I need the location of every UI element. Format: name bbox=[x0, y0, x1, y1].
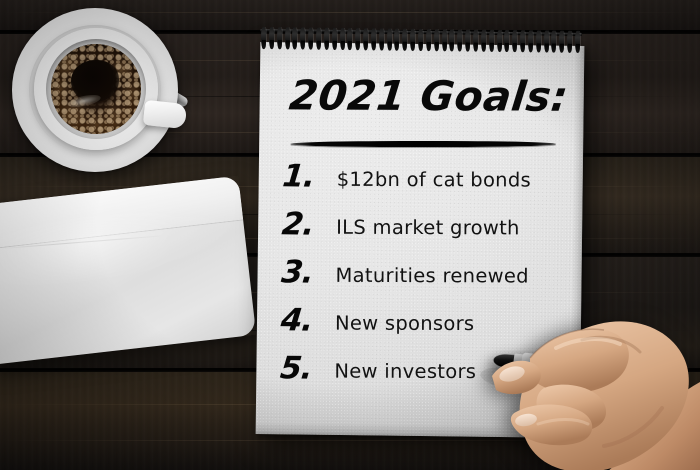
spiral-coil bbox=[426, 29, 431, 51]
spiral-coil bbox=[528, 30, 533, 52]
cup-rim bbox=[46, 39, 146, 139]
spiral-coil bbox=[457, 29, 462, 51]
spiral-coil bbox=[504, 30, 509, 52]
spiral-coil bbox=[567, 31, 572, 53]
list-item-number: 3. bbox=[280, 254, 330, 291]
spiral-coil bbox=[300, 28, 305, 50]
list-item-text: Maturities renewed bbox=[336, 264, 529, 288]
envelope bbox=[0, 176, 256, 365]
spiral-coil bbox=[449, 29, 454, 51]
spiral-coil bbox=[441, 29, 446, 51]
screenshot-scene: 2021 Goals: 1. $12bn of cat bonds 2. ILS… bbox=[0, 0, 700, 470]
spiral-coil bbox=[277, 27, 282, 49]
coffee-cup bbox=[34, 28, 158, 150]
spiral-coil bbox=[371, 28, 376, 50]
spiral-coil bbox=[520, 30, 525, 52]
list-item-text: $12bn of cat bonds bbox=[337, 168, 531, 192]
spiral-coil bbox=[363, 28, 368, 50]
spiral-coil bbox=[418, 29, 423, 51]
list-item-text: New sponsors bbox=[335, 312, 475, 335]
spiral-coil bbox=[402, 29, 407, 51]
saucer bbox=[12, 8, 178, 172]
coffee-liquid bbox=[51, 44, 141, 134]
spiral-coil bbox=[261, 27, 266, 49]
spiral-coil bbox=[269, 27, 274, 49]
spiral-coil bbox=[308, 28, 313, 50]
spiral-coil bbox=[379, 28, 384, 50]
spiral-coil bbox=[512, 30, 517, 52]
spiral-coil bbox=[324, 28, 329, 50]
spiral-coil bbox=[434, 29, 439, 51]
hand-illustration bbox=[486, 296, 700, 470]
page-title: 2021 Goals: bbox=[287, 71, 568, 120]
spiral-coil bbox=[465, 30, 470, 52]
spiral-coil bbox=[292, 27, 297, 49]
spiral-coil bbox=[543, 30, 548, 52]
list-item-number: 5. bbox=[279, 350, 329, 387]
list-item-text: ILS market growth bbox=[336, 216, 520, 240]
spiral-coil bbox=[536, 30, 541, 52]
title-underline bbox=[290, 141, 556, 147]
list-item-text: New investors bbox=[334, 360, 476, 383]
spiral-coil bbox=[284, 27, 289, 49]
spiral-coil bbox=[473, 30, 478, 52]
spiral-coil bbox=[496, 30, 501, 52]
cup-handle bbox=[143, 100, 187, 129]
spiral-coil bbox=[347, 28, 352, 50]
spiral-coil bbox=[410, 29, 415, 51]
spiral-coil bbox=[394, 29, 399, 51]
spiral-coil bbox=[355, 28, 360, 50]
list-item-number: 4. bbox=[279, 302, 329, 339]
spiral-coil bbox=[575, 31, 580, 53]
spiral-binding bbox=[258, 26, 584, 56]
spiral-coil bbox=[489, 30, 494, 52]
spiral-coil bbox=[332, 28, 337, 50]
list-item-number: 1. bbox=[281, 158, 331, 195]
spiral-coil bbox=[386, 29, 391, 51]
spiral-coil bbox=[559, 31, 564, 53]
spiral-coil bbox=[339, 28, 344, 50]
list-item-number: 2. bbox=[280, 206, 330, 243]
hand[interactable] bbox=[486, 296, 700, 470]
spiral-coil bbox=[481, 30, 486, 52]
spiral-coil bbox=[316, 28, 321, 50]
spiral-coil bbox=[551, 31, 556, 53]
